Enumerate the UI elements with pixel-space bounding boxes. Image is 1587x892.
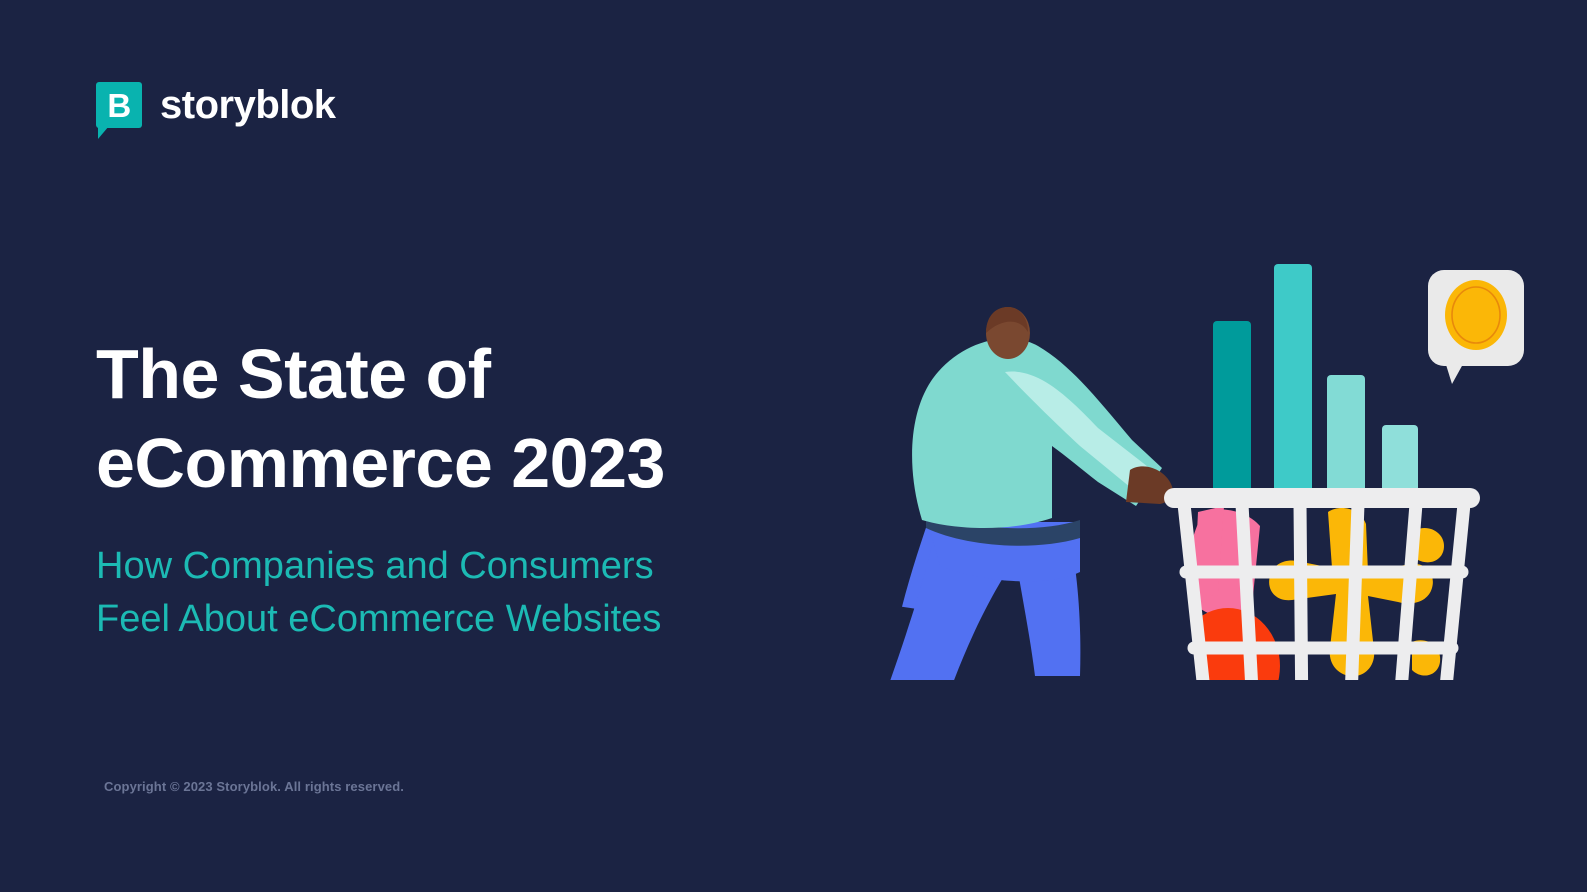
cart-top-rail [1164, 488, 1480, 508]
shopper-shirt [912, 338, 1162, 528]
storyblok-logo-mark-icon: B [96, 82, 142, 128]
logo-letter-b: B [96, 82, 142, 128]
illustration-bar-4 [1382, 425, 1418, 499]
hero-illustration [780, 200, 1580, 680]
page-title-line-1: The State of [96, 330, 796, 419]
page-subtitle-line-1: How Companies and Consumers [96, 540, 856, 594]
coin-icon [1445, 280, 1507, 350]
storyblok-logo[interactable]: B storyblok [96, 82, 336, 128]
cart-item-yellow-accent-1 [1416, 528, 1444, 562]
illustration-bar-2 [1274, 264, 1312, 499]
illustration-bar-chart [1213, 264, 1418, 499]
speech-bubble-with-coin-icon [1428, 270, 1524, 384]
page-subtitle-line-2: Feel About eCommerce Websites [96, 593, 856, 647]
shopper-figure [834, 307, 1173, 680]
cover-slide: B storyblok The State of eCommerce 2023 … [0, 0, 1587, 892]
storyblok-wordmark: storyblok [160, 85, 336, 125]
page-title: The State of eCommerce 2023 [96, 330, 796, 508]
speech-bubble-tail [1443, 355, 1468, 384]
illustration-bar-3 [1327, 375, 1365, 499]
illustration-bar-1 [1213, 321, 1251, 499]
page-subtitle: How Companies and Consumers Feel About e… [96, 540, 856, 648]
page-title-line-2: eCommerce 2023 [96, 419, 796, 508]
copyright-notice: Copyright © 2023 Storyblok. All rights r… [104, 779, 404, 794]
